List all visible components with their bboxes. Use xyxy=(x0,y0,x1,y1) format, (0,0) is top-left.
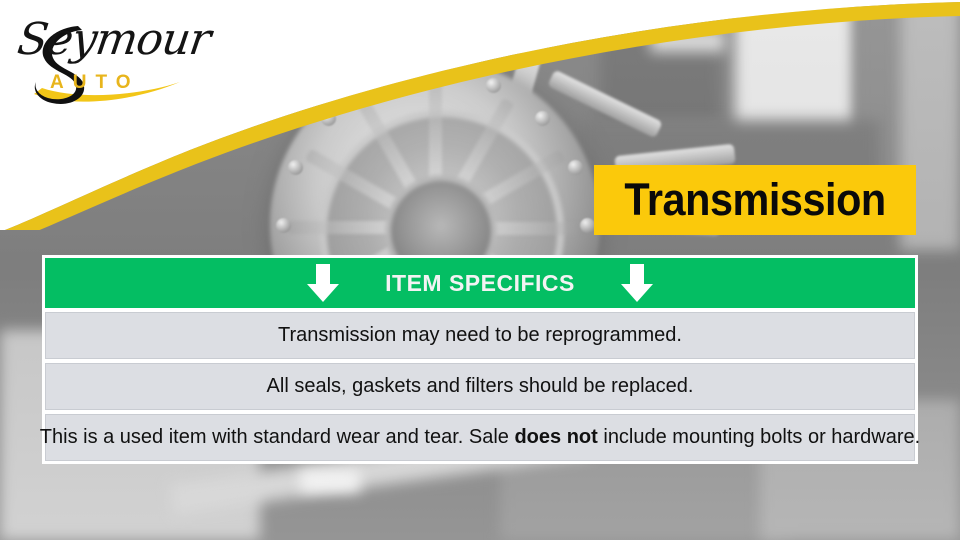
spec-row: This is a used item with standard wear a… xyxy=(45,414,915,461)
spec-row-text: Transmission may need to be reprogrammed… xyxy=(278,324,682,347)
logo-sub-text: AUTO xyxy=(50,72,139,94)
item-specifics-panel: ITEM SPECIFICS Transmission may need to … xyxy=(42,255,918,464)
spec-row-text-rich: This is a used item with standard wear a… xyxy=(40,426,920,449)
page-title-banner: Transmission xyxy=(594,165,916,235)
item-specifics-label: ITEM SPECIFICS xyxy=(385,270,575,297)
spec-row: Transmission may need to be reprogrammed… xyxy=(45,312,915,359)
spec-text-bold: does not xyxy=(514,426,597,448)
spec-row: All seals, gaskets and filters should be… xyxy=(45,363,915,410)
spec-text-before: This is a used item with standard wear a… xyxy=(40,426,515,448)
spec-row-text: All seals, gaskets and filters should be… xyxy=(267,375,694,398)
arrow-down-icon xyxy=(305,264,341,302)
spec-text-after: include mounting bolts or hardware. xyxy=(598,426,920,448)
page-title: Transmission xyxy=(624,174,885,226)
slide-canvas: Seymour AUTO Transmission ITEM SPECIFICS… xyxy=(0,0,960,540)
item-specifics-header: ITEM SPECIFICS xyxy=(45,258,915,308)
logo-script-text: Seymour xyxy=(15,18,213,62)
arrow-down-icon xyxy=(619,264,655,302)
brand-logo: Seymour AUTO xyxy=(12,16,192,108)
